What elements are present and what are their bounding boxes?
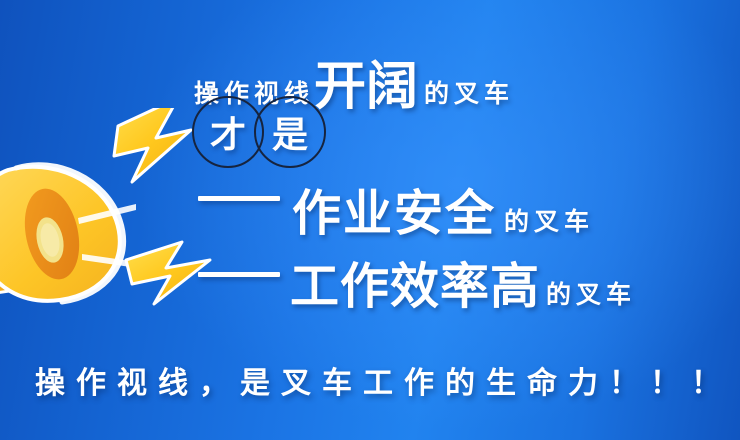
headline-line-3: 作业安全 的叉车 <box>292 174 594 245</box>
line4-dash <box>198 272 280 277</box>
headline-block: 操作视线 开阔 的叉车 才 是 作业安全 的叉车 工作效率高 的叉车 <box>0 0 740 340</box>
line3-emphasis: 作业安全 <box>292 174 496 245</box>
line4-suffix: 的叉车 <box>546 275 636 311</box>
line3-suffix: 的叉车 <box>504 202 594 238</box>
circle-char-1-text: 才 <box>210 106 246 158</box>
circle-char-2-text: 是 <box>272 106 308 158</box>
circle-char-2: 是 <box>254 96 326 168</box>
line1-suffix: 的叉车 <box>424 74 514 110</box>
bottom-slogan: 操作视线，是叉车工作的生命力！！！ <box>35 358 732 402</box>
line3-dash <box>198 196 280 201</box>
headline-line-2: 才 是 <box>192 96 382 170</box>
headline-line-4: 工作效率高 的叉车 <box>290 247 636 318</box>
line4-emphasis: 工作效率高 <box>290 247 540 318</box>
poster-canvas: 操作视线 开阔 的叉车 才 是 作业安全 的叉车 工作效率高 的叉车 操作视线，… <box>0 0 740 440</box>
